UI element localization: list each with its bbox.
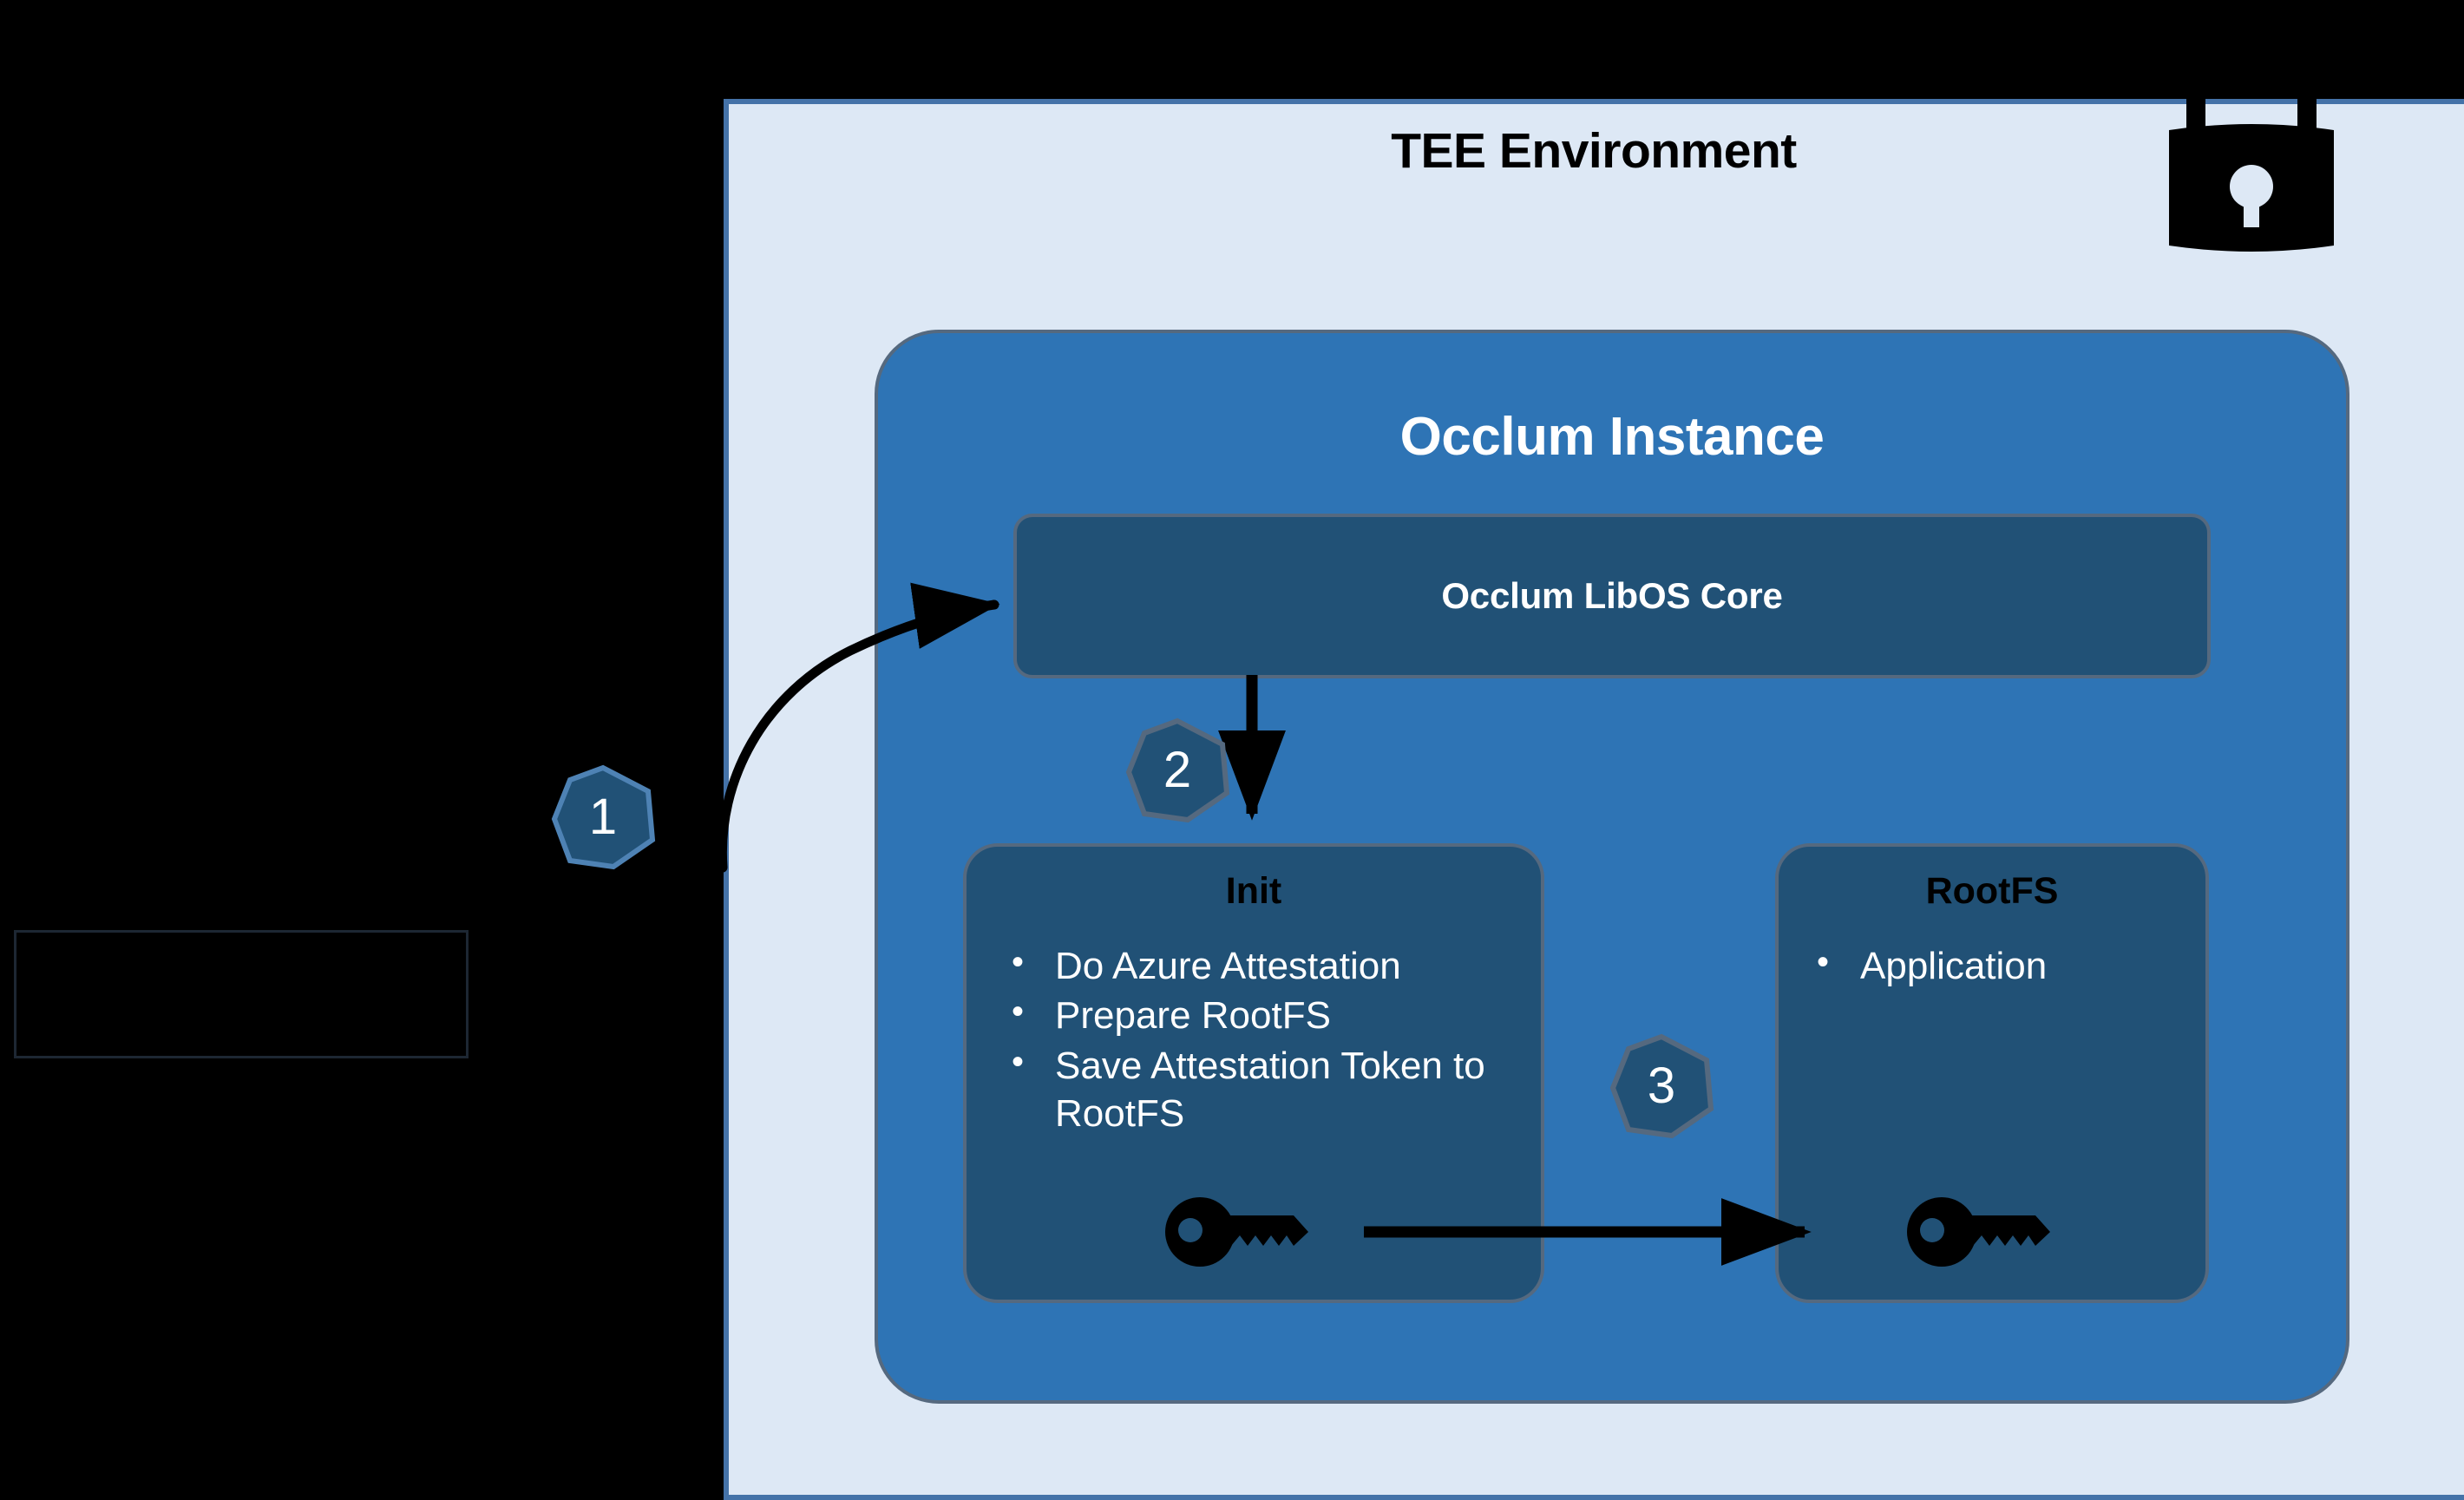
occlum-instance-title: Occlum Instance [875,406,2349,468]
step-badge-label: 3 [1609,1034,1714,1138]
step-badge-label: 2 [1125,718,1229,822]
init-bullet-list: Do Azure Attestation Prepare RootFS Save… [1001,942,1522,1140]
left-placeholder-rect [14,930,469,1058]
occlum-libos-core-box: Occlum LibOS Core [1013,514,2211,678]
step-badge-label: 1 [551,765,655,869]
list-item: Save Attestation Token to RootFS [1001,1042,1522,1138]
rootfs-bullet-list: Application [1806,942,2188,990]
rootfs-heading: RootFS [1779,870,2205,913]
list-item: Prepare RootFS [1001,992,1522,1039]
occlum-libos-core-label: Occlum LibOS Core [1441,575,1782,617]
lock-icon [2160,68,2343,253]
step-badge-1: 1 [551,765,655,869]
diagram-canvas: TEE Environment Occlum Instance Occlum L… [0,0,2464,1500]
key-icon [1907,1192,2059,1272]
list-item: Do Azure Attestation [1001,942,1522,990]
list-item: Application [1806,942,2188,990]
step-badge-3: 3 [1609,1034,1714,1138]
key-icon [1165,1192,1317,1272]
init-heading: Init [967,870,1541,913]
step-badge-2: 2 [1125,718,1229,822]
